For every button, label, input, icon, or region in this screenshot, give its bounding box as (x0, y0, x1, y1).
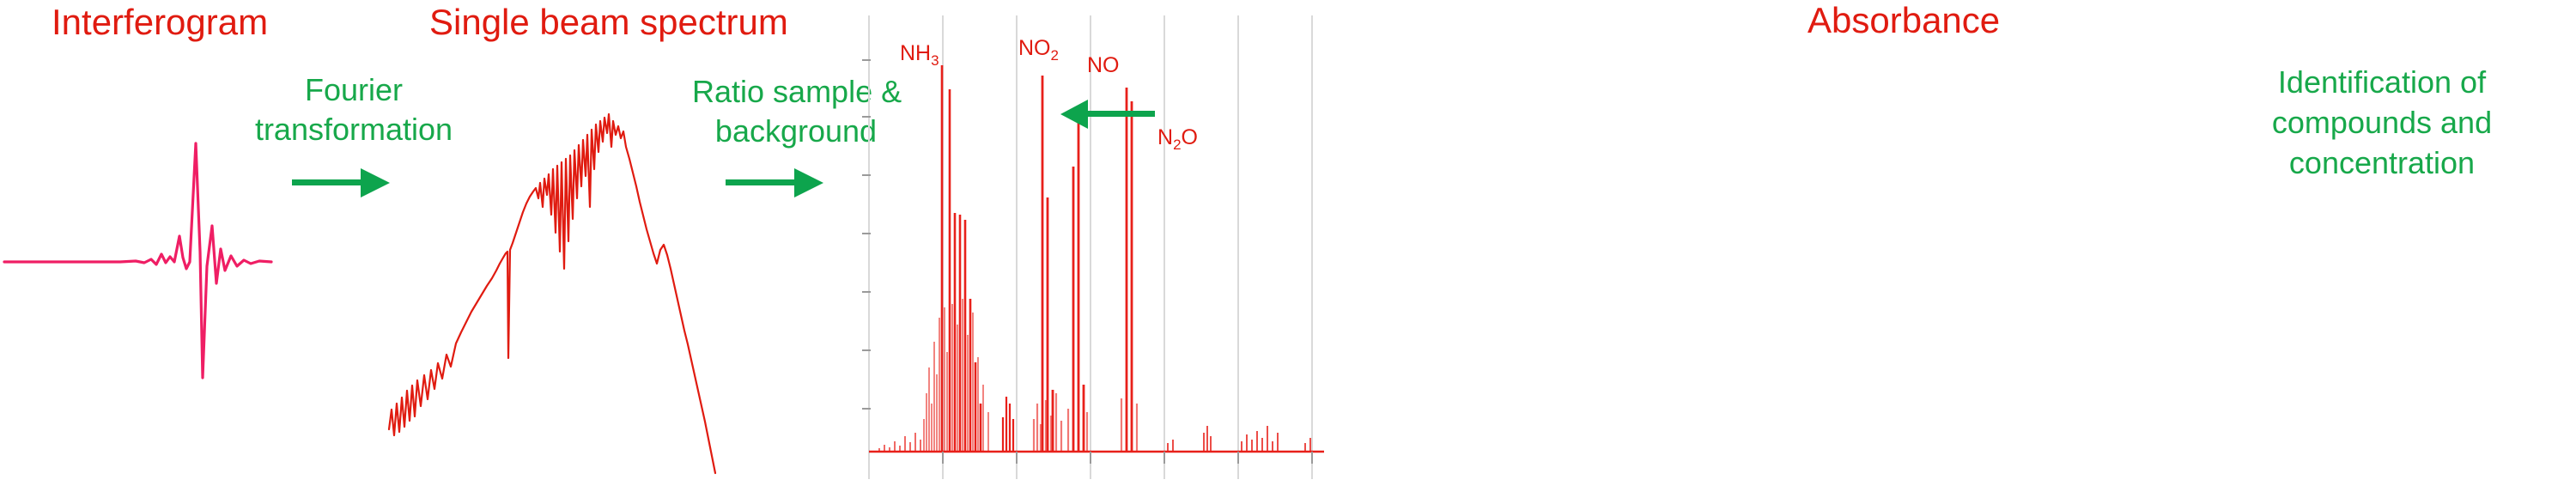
identification-line-2: compounds and (2188, 102, 2576, 143)
single-beam-title: Single beam spectrum (429, 2, 788, 43)
arrow-shaft (292, 179, 364, 185)
interferogram-title: Interferogram (52, 2, 268, 43)
identification-line-3: concentration (2188, 143, 2576, 183)
annotation-n2o: N2O (1157, 125, 1198, 153)
identification-line-1: Identification of (2188, 62, 2576, 102)
identification-label: Identification of compounds and concentr… (2188, 62, 2576, 183)
ratio-arrow-right-icon (726, 165, 829, 199)
annotation-nh3: NH3 (900, 41, 939, 69)
arrow-shaft (726, 179, 798, 185)
arrow-shaft (1086, 111, 1155, 117)
fourier-arrow-right-icon (292, 165, 395, 199)
arrow-head (1060, 100, 1088, 129)
annotation-no2: NO2 (1018, 36, 1059, 64)
absorbance-svg: NH3 NO2 NO N2O (850, 15, 1331, 496)
interferogram-trace (4, 143, 271, 378)
interferogram-svg (0, 133, 275, 382)
arrow-head (794, 168, 823, 197)
single-beam-trace (389, 114, 715, 473)
absorbance-title: Absorbance (1807, 0, 2000, 41)
absorbance-plot: NH3 NO2 NO N2O (850, 15, 1331, 496)
absorbance-x-ticks (943, 452, 1312, 464)
interferogram-plot (0, 133, 275, 382)
single-beam-svg (382, 39, 721, 485)
annotation-no: NO (1087, 53, 1120, 77)
absorbance-gridlines (869, 15, 1312, 479)
identification-arrow-left-icon (1060, 96, 1155, 131)
single-beam-plot (382, 39, 721, 485)
